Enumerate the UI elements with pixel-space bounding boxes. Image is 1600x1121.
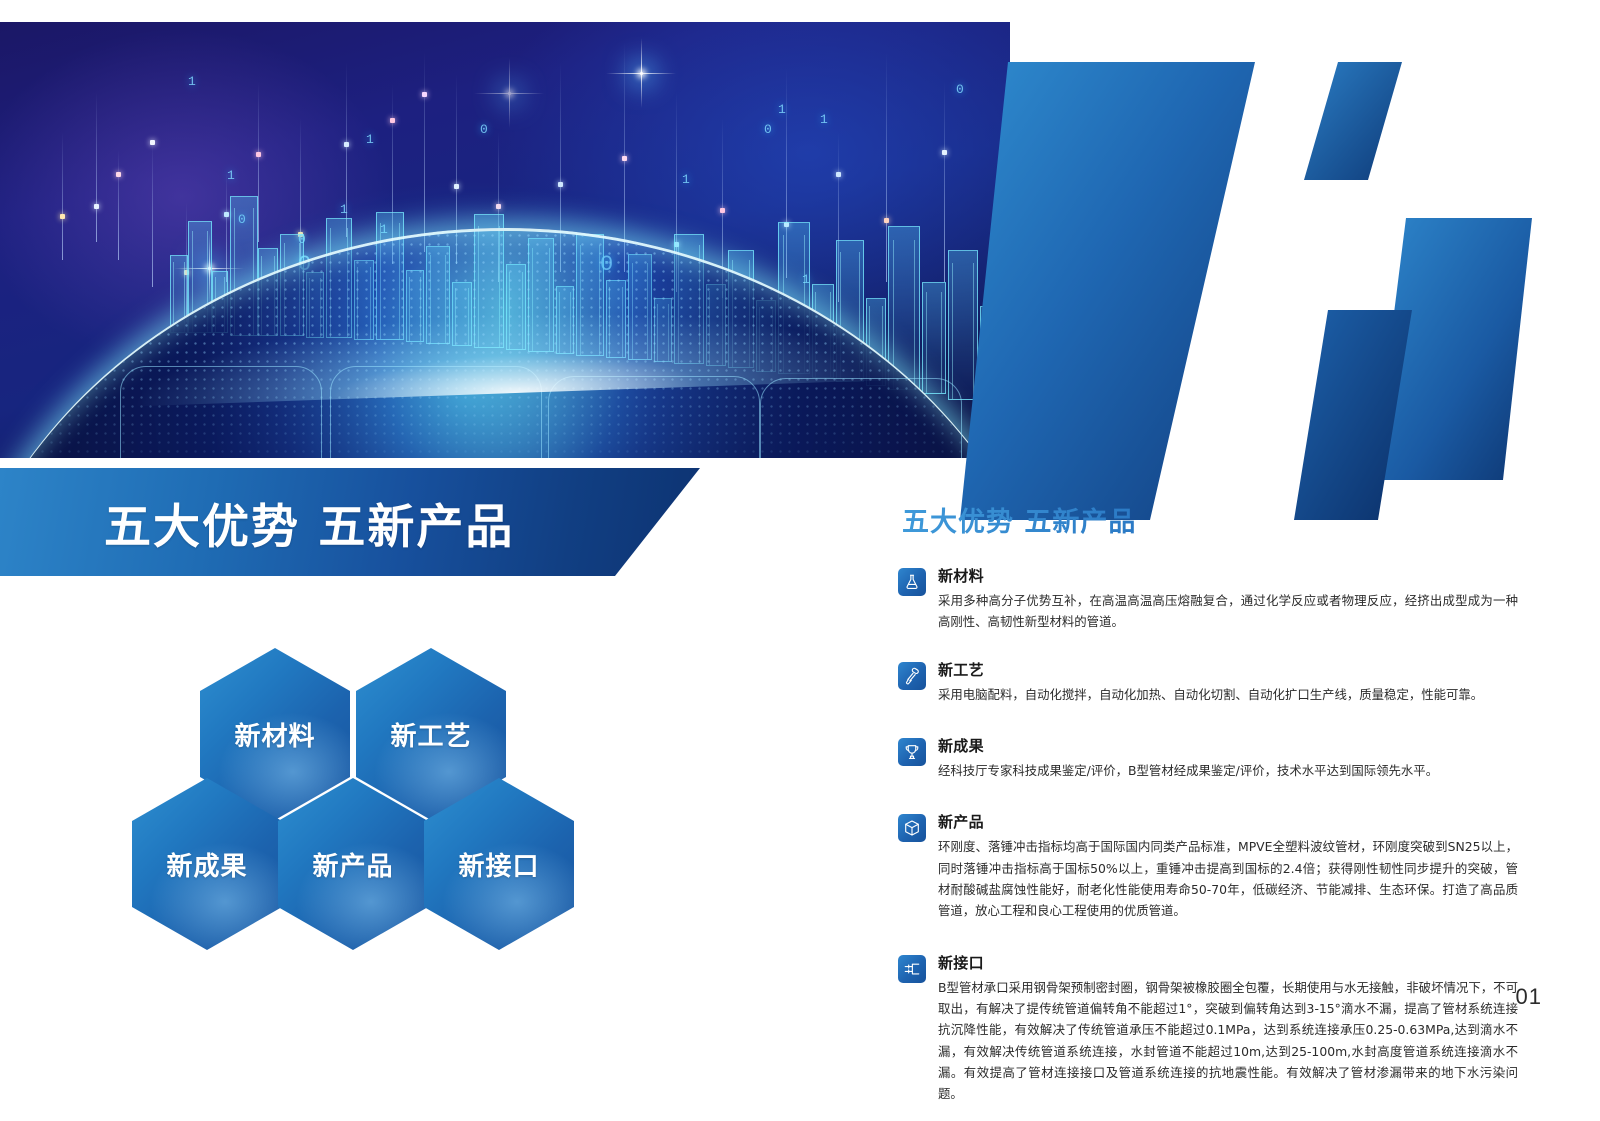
feature-item-new-product: 新产品 环刚度、落锤冲击指标均高于国际国内同类产品标准，MPVE全塑料波纹管材，… [898,811,1518,921]
data-dot [720,208,725,213]
data-dot [884,218,889,223]
data-dot [496,204,501,209]
feature-text: 新接口 B型管材承口采用钢骨架预制密封圈，钢骨架被橡胶圈全包覆，长期使用与水无接… [938,952,1518,1105]
data-stem [424,52,425,252]
binary-digit: 1 [682,172,690,187]
binary-digit: 1 [820,112,828,127]
light-flare-icon [508,92,511,95]
data-dot [94,204,99,209]
data-dot [390,118,395,123]
circuit-trace [330,366,542,458]
feature-text: 新工艺 采用电脑配料，自动化搅拌，自动化加热、自动化切割、自动化扩口生产线，质量… [938,659,1518,705]
feature-body: 采用电脑配料，自动化搅拌，自动化加热、自动化切割、自动化扩口生产线，质量稳定，性… [938,684,1518,705]
feature-text: 新产品 环刚度、落锤冲击指标均高于国际国内同类产品标准，MPVE全塑料波纹管材，… [938,811,1518,921]
data-dot [942,150,947,155]
page-number: 01 [1516,984,1542,1010]
main-title-banner: 五大优势 五新产品 [0,468,700,576]
data-stem [944,82,945,282]
binary-digit: 1 [227,168,235,183]
shape-parallelogram-lower [1294,310,1412,520]
hexagon-label: 新工艺 [390,716,471,753]
data-stem [226,172,227,282]
feature-text: 新成果 经科技厅专家科技成果鉴定/评价，B型管材经成果鉴定/评价，技术水平达到国… [938,735,1518,781]
feature-heading: 新成果 [938,735,1518,756]
data-dot [836,172,841,177]
shape-parallelogram-small-top [1304,62,1402,180]
binary-digit: 1 [340,202,348,217]
feature-item-new-achievement: 新成果 经科技厅专家科技成果鉴定/评价，B型管材经成果鉴定/评价，技术水平达到国… [898,735,1518,781]
feature-item-new-interface: 新接口 B型管材承口采用钢骨架预制密封圈，钢骨架被橡胶圈全包覆，长期使用与水无接… [898,952,1518,1105]
data-dot [454,184,459,189]
data-dot [60,214,65,219]
trophy-icon [898,738,926,766]
circuit-trace [120,366,322,458]
hero-tech-city-image: 1 0 1 1 0 1 0 0 1 1 0 1 1 0 1 0 1 [0,22,1010,458]
feature-text: 新材料 采用多种高分子优势互补，在高温高温高压熔融复合，通过化学反应或者物理反应… [938,565,1518,633]
feature-body: B型管材承口采用钢骨架预制密封圈，钢骨架被橡胶圈全包覆，长期使用与水无接触，非破… [938,977,1518,1105]
binary-digit: 1 [188,74,196,89]
feature-item-new-material: 新材料 采用多种高分子优势互补，在高温高温高压熔融复合，通过化学反应或者物理反应… [898,565,1518,633]
flask-icon [898,568,926,596]
circuit-trace [760,378,962,458]
pipe-joint-icon [898,955,926,983]
light-flare-icon [640,72,643,75]
features-column: 五大优势 五新产品 新材料 采用多种高分子优势互补，在高温高温高压熔融复合，通过… [898,500,1518,1121]
feature-heading: 新工艺 [938,659,1518,680]
binary-digit: 0 [764,122,772,137]
feature-item-new-process: 新工艺 采用电脑配料，自动化搅拌，自动化加热、自动化切割、自动化扩口生产线，质量… [898,659,1518,705]
data-dot [256,152,261,157]
data-stem [886,52,887,282]
paint-roller-icon [898,662,926,690]
binary-digit: 1 [778,102,786,117]
data-dot [224,212,229,217]
hero-artwork: 1 0 1 1 0 1 0 0 1 1 0 1 1 0 1 0 1 [0,22,1010,458]
feature-heading: 新接口 [938,952,1518,973]
data-stem [152,142,153,287]
data-stem [62,132,63,260]
features-column-title: 五大优势 五新产品 [902,500,1518,539]
circuit-trace [548,376,760,458]
decorative-parallelograms [960,0,1600,520]
banner-title-text: 五大优势 五新产品 [104,488,514,557]
data-dot [150,140,155,145]
data-dot [622,156,627,161]
feature-heading: 新材料 [938,565,1518,586]
hexagon-label: 新成果 [166,846,247,883]
data-stem [118,150,119,260]
feature-body: 环刚度、落锤冲击指标均高于国际国内同类产品标准，MPVE全塑料波纹管材，环刚度突… [938,836,1518,921]
shape-parallelogram-large [960,62,1255,520]
data-dot [558,182,563,187]
data-stem [258,82,259,242]
cube-icon [898,814,926,842]
feature-heading: 新产品 [938,811,1518,832]
data-dot [422,92,427,97]
hexagon-label: 新产品 [312,846,393,883]
poster-page: 1 0 1 1 0 1 0 0 1 1 0 1 1 0 1 0 1 [0,0,1600,1085]
hexagon-label: 新材料 [234,716,315,753]
hexagon-cluster: 新材料 新工艺 新成果 新产品 新接口 [132,648,552,948]
data-dot [116,172,121,177]
binary-digit: 0 [480,122,488,137]
data-stem [96,92,97,242]
binary-digit: 1 [366,132,374,147]
feature-body: 经科技厅专家科技成果鉴定/评价，B型管材经成果鉴定/评价，技术水平达到国际领先水… [938,760,1518,781]
feature-body: 采用多种高分子优势互补，在高温高温高压熔融复合，通过化学反应或者物理反应，经挤出… [938,590,1518,633]
data-dot [344,142,349,147]
hexagon-label: 新接口 [458,846,539,883]
